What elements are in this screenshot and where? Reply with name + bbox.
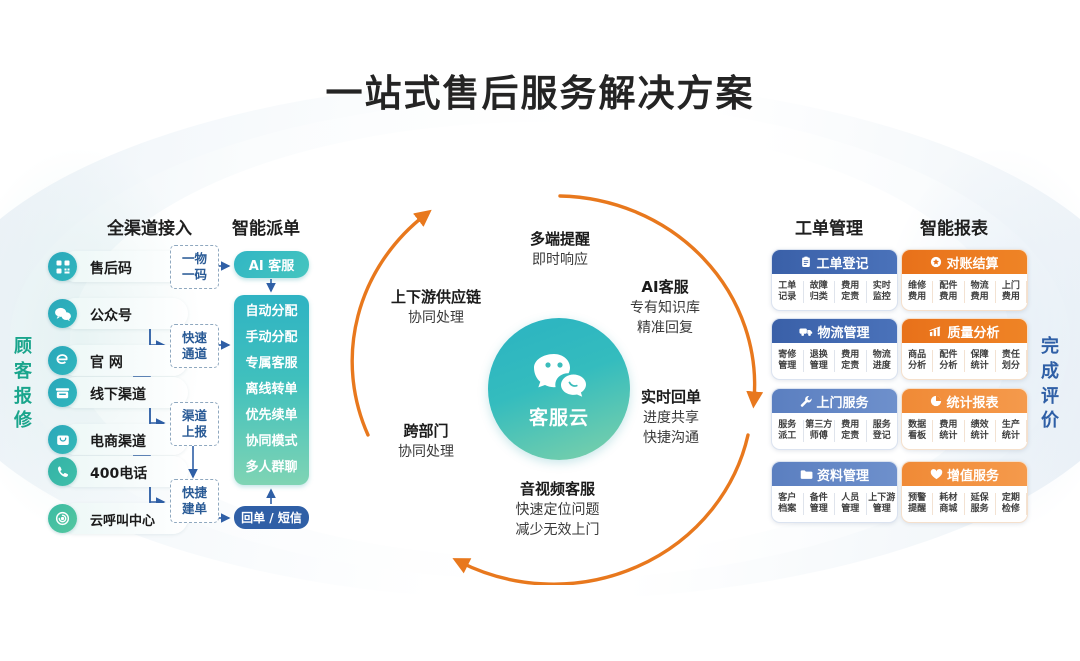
cell-line1: 绩效 (971, 420, 989, 430)
gateway-box-3[interactable]: 快捷 建单 (170, 479, 219, 523)
ai-service-pill[interactable]: AI 客服 (234, 251, 309, 278)
orbit-line-0: 进度共享 (606, 409, 736, 429)
cell-line2: 记录 (778, 292, 796, 302)
ticket-card-head-2: 上门服务 (772, 389, 897, 413)
cell-line2: 进度 (873, 361, 891, 371)
gateway-line2: 上报 (182, 424, 207, 440)
report-card-head-2: 统计报表 (902, 389, 1027, 413)
diagram-canvas: 一站式售后服务解决方案 顾客报修 完成评价 全渠道接入 智能派单 工单管理 智能… (0, 0, 1080, 661)
cell-line1: 生产 (1002, 420, 1020, 430)
card-cell: 实时监控 (867, 281, 898, 304)
wechat-icon (48, 299, 77, 328)
heading-dispatch: 智能派单 (232, 214, 300, 239)
cell-line2: 划分 (1002, 361, 1020, 371)
cell-line1: 费用 (841, 281, 859, 291)
orbit-block-1: AI客服 专有知识库 精准回复 (600, 276, 730, 339)
orbit-title: 多端提醒 (480, 228, 640, 249)
card-cell: 上下游管理 (867, 493, 898, 516)
ticket-card-head-0: 工单登记 (772, 250, 897, 274)
cell-line1: 第三方 (805, 420, 832, 430)
cell-line1: 服务 (873, 420, 891, 430)
orbit-block-4: 跨部门 协同处理 (366, 420, 486, 463)
cell-line2: 看板 (908, 431, 926, 441)
qr-code-icon (48, 252, 77, 281)
orbit-block-5: 上下游供应链 协同处理 (366, 286, 506, 329)
cell-line1: 费用 (939, 420, 957, 430)
cell-line2: 管理 (778, 361, 796, 371)
cell-line1: 预警 (908, 493, 926, 503)
report-card-body-0: 维修费用 配件费用 物流费用 上门费用 (902, 274, 1027, 310)
orbit-line-1: 精准回复 (600, 319, 730, 339)
card-cell: 耗材商城 (933, 493, 964, 516)
ticket-card-head-1: 物流管理 (772, 319, 897, 343)
brand-name: 客服云 (529, 403, 589, 430)
cell-line1: 人员 (841, 493, 859, 503)
gateway-line1: 快速 (182, 330, 207, 346)
orbit-title: 音视频客服 (470, 478, 645, 499)
card-cell: 物流进度 (867, 350, 898, 373)
orbit-line-1: 减少无效上门 (470, 521, 645, 541)
card-cell: 费用定责 (835, 281, 867, 304)
cell-line1: 耗材 (939, 493, 957, 503)
cell-line1: 配件 (939, 350, 957, 360)
heading-omnichannel: 全渠道接入 (107, 214, 192, 239)
return-sms-pill[interactable]: 回单 / 短信 (234, 506, 309, 529)
ticket-card-body-1: 寄修管理 退换管理 费用定责 物流进度 (772, 343, 897, 379)
cell-line1: 客户 (778, 493, 796, 503)
cell-line1: 故障 (810, 281, 828, 291)
orbit-line-0: 协同处理 (366, 309, 506, 329)
ticket-card-title-2: 上门服务 (816, 392, 868, 411)
cell-line2: 定责 (841, 292, 859, 302)
cell-line1: 备件 (810, 493, 828, 503)
report-card-head-0: 对账结算 (902, 250, 1027, 274)
cell-line2: 定责 (841, 361, 859, 371)
gateway-box-0[interactable]: 一物 一码 (170, 245, 219, 289)
cell-line2: 分析 (908, 361, 926, 371)
cell-line2: 归类 (810, 292, 828, 302)
dispatch-item-4[interactable]: 优先续单 (234, 403, 309, 429)
cell-line1: 服务 (778, 420, 796, 430)
card-cell: 预警提醒 (902, 493, 933, 516)
card-cell: 费用定责 (835, 350, 867, 373)
cell-line1: 保障 (971, 350, 989, 360)
orbit-block-3: 音视频客服 快速定位问题 减少无效上门 (470, 478, 645, 541)
dispatch-item-3[interactable]: 离线转单 (234, 377, 309, 403)
card-cell: 延保服务 (965, 493, 996, 516)
ticket-card-1[interactable]: 物流管理 寄修管理 退换管理 费用定责 物流进度 (771, 318, 898, 380)
card-cell: 费用统计 (933, 420, 964, 443)
card-cell: 故障归类 (804, 281, 836, 304)
cell-line1: 配件 (939, 281, 957, 291)
cell-line2: 商城 (939, 504, 957, 514)
dispatch-item-0[interactable]: 自动分配 (234, 299, 309, 325)
cell-line2: 管理 (873, 504, 891, 514)
card-cell: 服务派工 (772, 420, 804, 443)
cell-line2: 定责 (841, 431, 859, 441)
cell-line2: 统计 (971, 361, 989, 371)
cell-line2: 提醒 (908, 504, 926, 514)
folder-icon (800, 469, 813, 480)
ticket-card-body-0: 工单记录 故障归类 费用定责 实时监控 (772, 274, 897, 310)
ticket-card-head-3: 资料管理 (772, 462, 897, 486)
cell-line1: 实时 (873, 281, 891, 291)
channel-label-3: 线下渠道 (90, 384, 195, 404)
cell-line2: 管理 (810, 361, 828, 371)
gateway-line2: 建单 (182, 501, 207, 517)
report-card-body-2: 数据看板 费用统计 绩效统计 生产统计 (902, 413, 1027, 449)
card-cell: 客户档案 (772, 493, 804, 516)
cell-line2: 费用 (1002, 292, 1020, 302)
cell-line1: 上下游 (868, 493, 895, 503)
cell-line2: 分析 (939, 361, 957, 371)
cell-line2: 管理 (810, 504, 828, 514)
ticket-card-3[interactable]: 资料管理 客户档案 备件管理 人员管理 上下游管理 (771, 461, 898, 523)
card-cell: 责任划分 (996, 350, 1027, 373)
coin-icon (930, 256, 942, 268)
cell-line1: 商品 (908, 350, 926, 360)
cloud-call-icon (48, 504, 77, 533)
card-cell: 工单记录 (772, 281, 804, 304)
wrench-icon (800, 395, 812, 407)
phone-icon (48, 457, 77, 486)
cell-line2: 统计 (1002, 431, 1020, 441)
cell-line1: 延保 (971, 493, 989, 503)
cell-line2: 费用 (939, 292, 957, 302)
cell-line1: 费用 (841, 350, 859, 360)
ticket-card-body-3: 客户档案 备件管理 人员管理 上下游管理 (772, 486, 897, 522)
report-card-head-1: 质量分析 (902, 319, 1027, 343)
heading-report: 智能报表 (920, 214, 988, 239)
dispatch-item-6[interactable]: 多人群聊 (234, 455, 309, 481)
report-card-title-1: 质量分析 (947, 322, 999, 341)
report-card-body-1: 商品分析 配件分析 保障统计 责任划分 (902, 343, 1027, 379)
ticket-card-body-2: 服务派工 第三方师傅 费用定责 服务登记 (772, 413, 897, 449)
orbit-line-0: 协同处理 (366, 443, 486, 463)
side-label-evaluation: 完成评价 (1035, 335, 1065, 434)
gateway-line1: 一物 (182, 251, 207, 267)
cell-line2: 档案 (778, 504, 796, 514)
side-label-customer-report: 顾客报修 (8, 335, 38, 434)
card-cell: 绩效统计 (965, 420, 996, 443)
cell-line2: 检修 (1002, 504, 1020, 514)
cell-line1: 寄修 (778, 350, 796, 360)
card-cell: 生产统计 (996, 420, 1027, 443)
browser-icon (48, 346, 77, 375)
report-card-title-2: 统计报表 (946, 392, 998, 411)
heading-ticket: 工单管理 (795, 214, 863, 239)
orbit-title: 跨部门 (366, 420, 486, 441)
orbit-line-0: 即时响应 (480, 251, 640, 271)
cell-line2: 服务 (971, 504, 989, 514)
cell-line2: 统计 (971, 431, 989, 441)
shopping-bag-icon (48, 425, 77, 454)
dispatch-rules-box: 自动分配 手动分配 专属客服 离线转单 优先续单 协同模式 多人群聊 (234, 295, 309, 485)
card-cell: 服务登记 (867, 420, 898, 443)
card-cell: 上门费用 (996, 281, 1027, 304)
channel-label-1: 公众号 (90, 305, 195, 325)
card-cell: 备件管理 (804, 493, 836, 516)
orbit-line-1: 快捷沟通 (606, 429, 736, 449)
cell-line2: 监控 (873, 292, 891, 302)
dispatch-item-1[interactable]: 手动分配 (234, 325, 309, 351)
cell-line1: 数据 (908, 420, 926, 430)
orbit-line-0: 专有知识库 (600, 299, 730, 319)
cell-line2: 师傅 (810, 431, 828, 441)
card-cell: 费用定责 (835, 420, 867, 443)
card-cell: 退换管理 (804, 350, 836, 373)
cell-line1: 退换 (810, 350, 828, 360)
orbit-block-0: 多端提醒 即时响应 (480, 228, 640, 271)
orbit-title: AI客服 (600, 276, 730, 297)
cell-line2: 管理 (841, 504, 859, 514)
cell-line2: 费用 (971, 292, 989, 302)
ticket-card-title-0: 工单登记 (816, 253, 868, 272)
store-icon (48, 378, 77, 407)
orbit-line-0: 快速定位问题 (470, 501, 645, 521)
gateway-line2: 通道 (182, 346, 207, 362)
ticket-card-0[interactable]: 工单登记 工单记录 故障归类 费用定责 实时监控 (771, 249, 898, 311)
ticket-card-title-3: 资料管理 (817, 465, 869, 484)
gateway-line2: 一码 (182, 267, 207, 283)
cell-line1: 上门 (1002, 281, 1020, 291)
report-card-head-3: 增值服务 (902, 462, 1027, 486)
dispatch-item-5[interactable]: 协同模式 (234, 429, 309, 455)
cell-line1: 维修 (908, 281, 926, 291)
cell-line2: 统计 (939, 431, 957, 441)
cell-line2: 费用 (908, 292, 926, 302)
report-card-body-3: 预警提醒 耗材商城 延保服务 定期检修 (902, 486, 1027, 522)
ticket-card-2[interactable]: 上门服务 服务派工 第三方师傅 费用定责 服务登记 (771, 388, 898, 450)
cell-line2: 派工 (778, 431, 796, 441)
card-cell: 人员管理 (835, 493, 867, 516)
card-cell: 寄修管理 (772, 350, 804, 373)
card-cell: 物流费用 (965, 281, 996, 304)
report-card-3[interactable]: 增值服务 预警提醒 耗材商城 延保服务 定期检修 (901, 461, 1028, 523)
report-card-title-0: 对账结算 (946, 253, 998, 272)
card-cell: 配件费用 (933, 281, 964, 304)
orbit-title: 实时回单 (606, 386, 736, 407)
ticket-card-title-1: 物流管理 (817, 322, 869, 341)
cell-line1: 责任 (1002, 350, 1020, 360)
page-title: 一站式售后服务解决方案 (0, 63, 1080, 117)
bar-chart-icon (929, 326, 943, 337)
card-cell: 配件分析 (933, 350, 964, 373)
cell-line2: 登记 (873, 431, 891, 441)
card-cell: 维修费用 (902, 281, 933, 304)
truck-icon (799, 326, 813, 337)
dispatch-item-2[interactable]: 专属客服 (234, 351, 309, 377)
pie-chart-icon (930, 395, 942, 407)
cell-line1: 定期 (1002, 493, 1020, 503)
clipboard-icon (800, 256, 812, 268)
cell-line1: 工单 (778, 281, 796, 291)
report-card-title-3: 增值服务 (947, 465, 999, 484)
report-card-1[interactable]: 质量分析 商品分析 配件分析 保障统计 责任划分 (901, 318, 1028, 380)
report-card-2[interactable]: 统计报表 数据看板 费用统计 绩效统计 生产统计 (901, 388, 1028, 450)
cell-line1: 物流 (971, 281, 989, 291)
heart-icon (930, 469, 943, 480)
card-cell: 商品分析 (902, 350, 933, 373)
orbit-title: 上下游供应链 (366, 286, 506, 307)
card-cell: 数据看板 (902, 420, 933, 443)
card-cell: 定期检修 (996, 493, 1027, 516)
gateway-line1: 快捷 (182, 485, 207, 501)
cell-line1: 费用 (841, 420, 859, 430)
orbit-block-2: 实时回单 进度共享 快捷沟通 (606, 386, 736, 449)
gateway-line1: 渠道 (182, 408, 207, 424)
card-cell: 保障统计 (965, 350, 996, 373)
card-cell: 第三方师傅 (804, 420, 836, 443)
gateway-box-1[interactable]: 快速 通道 (170, 324, 219, 368)
report-card-0[interactable]: 对账结算 维修费用 配件费用 物流费用 上门费用 (901, 249, 1028, 311)
cell-line1: 物流 (873, 350, 891, 360)
gateway-box-2[interactable]: 渠道 上报 (170, 402, 219, 446)
